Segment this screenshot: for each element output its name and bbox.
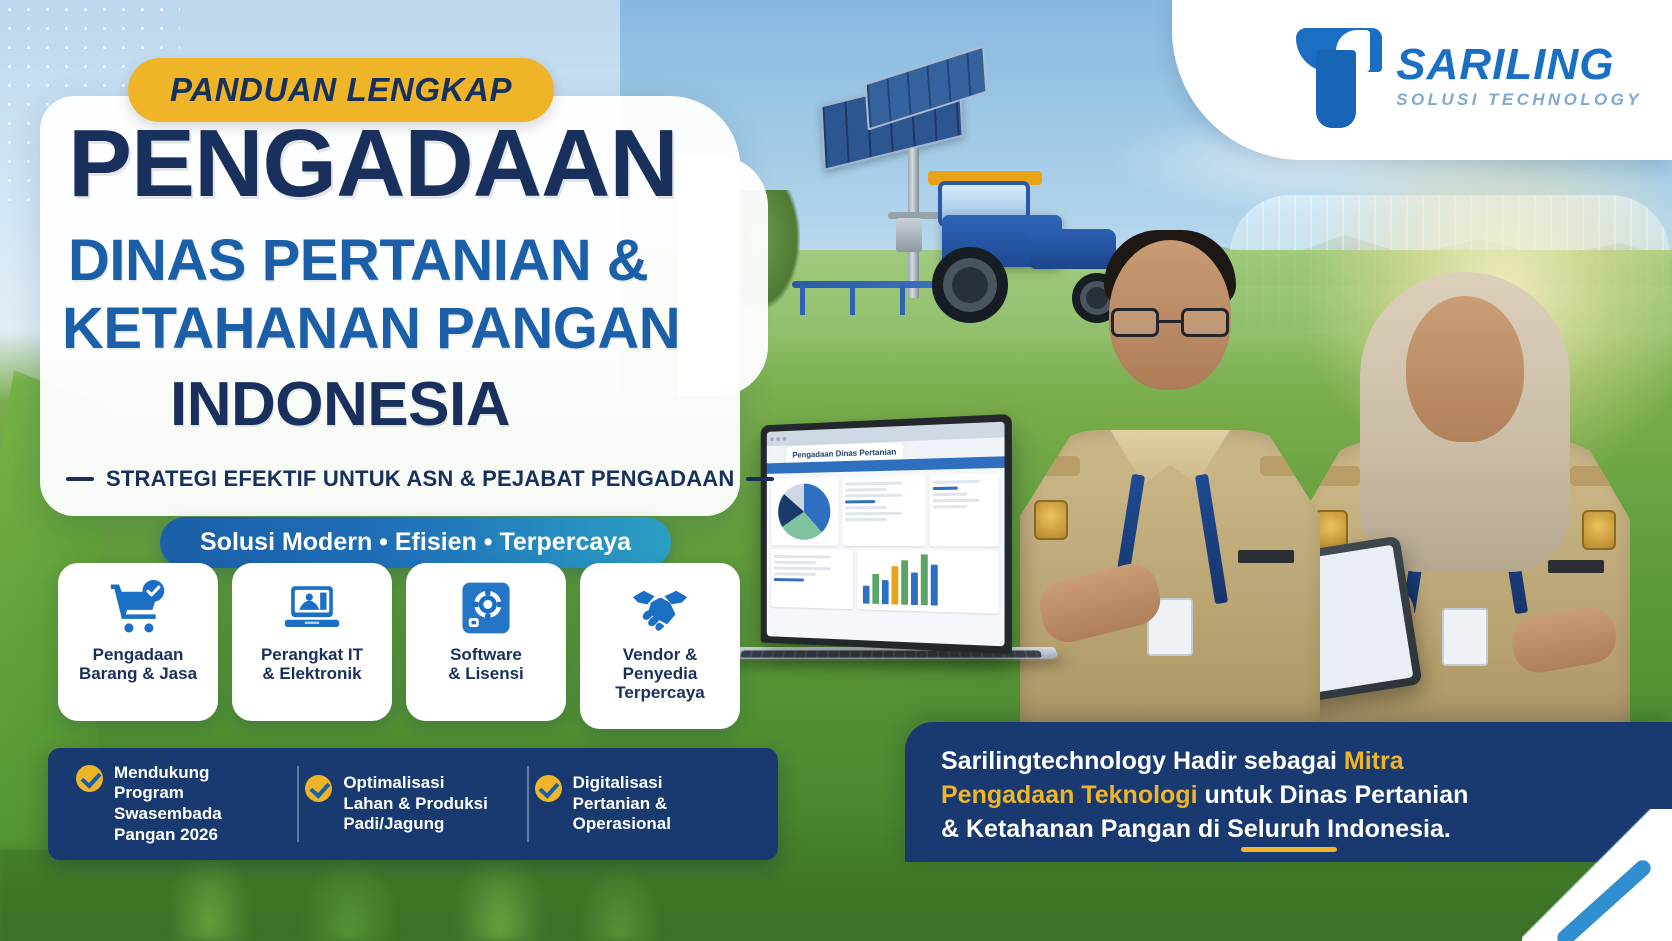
checklist-item-swasembada: Mendukung Program Swasembada Pangan 2026: [70, 763, 297, 846]
feature-card-software[interactable]: Software & Lisensi: [406, 563, 566, 721]
headline-line-2: DINAS PERTANIAN &: [68, 232, 648, 290]
caption-highlight-mitra: Mitra: [1344, 747, 1404, 775]
feature-card-vendor[interactable]: Vendor & Penyedia Terpercaya: [580, 563, 740, 729]
laptop-icon: [281, 579, 343, 637]
female-officer-photo: [1300, 250, 1630, 770]
handshake-icon: [629, 579, 691, 637]
caption-segment-6: & Ketahanan Pangan di Seluruh Indonesia.: [941, 815, 1451, 843]
shopping-cart-check-icon: [107, 579, 169, 637]
headline-line-1: PENGADAAN: [68, 118, 678, 209]
checklist-text: Optimalisasi Lahan & Produksi Padi/Jagun…: [343, 773, 488, 835]
accent-underline: [1241, 847, 1337, 852]
feature-card-label: Perangkat IT & Elektronik: [255, 645, 369, 683]
checklist-bar: Mendukung Program Swasembada Pangan 2026…: [48, 748, 778, 860]
software-gear-icon: [455, 579, 517, 637]
feature-card-pengadaan[interactable]: Pengadaan Barang & Jasa: [58, 563, 218, 721]
feature-card-label: Pengadaan Barang & Jasa: [73, 645, 203, 683]
feature-card-list: Pengadaan Barang & Jasa Perangkat IT & E…: [58, 563, 740, 729]
check-circle-icon: [535, 775, 562, 802]
checklist-item-digitalisasi: Digitalisasi Pertanian & Operasional: [529, 773, 756, 835]
subtitle-strip: STRATEGI EFEKTIF UNTUK ASN & PEJABAT PEN…: [66, 466, 774, 492]
dashboard-bar-chart: [860, 553, 996, 611]
subtitle-text: STRATEGI EFEKTIF UNTUK ASN & PEJABAT PEN…: [106, 466, 734, 492]
feature-card-label: Software & Lisensi: [442, 645, 530, 683]
checklist-text: Mendukung Program Swasembada Pangan 2026: [114, 763, 291, 846]
corner-swoosh-decoration: [1522, 809, 1672, 941]
headline-line-4: INDONESIA: [170, 374, 510, 436]
promotional-banner: Pengadaan Dinas Pertanian: [0, 0, 1672, 941]
laptop-screen: Pengadaan Dinas Pertanian: [767, 422, 1005, 647]
dash-decoration-left: [66, 477, 94, 481]
sariling-t-mark-icon: [1290, 24, 1382, 128]
brand-logo[interactable]: SARILING SOLUSI TECHNOLOGY: [1290, 24, 1642, 128]
caption-segment-1: Sarilingtechnology Hadir sebagai: [941, 747, 1344, 775]
checklist-item-optimalisasi: Optimalisasi Lahan & Produksi Padi/Jagun…: [299, 773, 526, 835]
caption-segment-4: untuk: [1198, 781, 1280, 809]
caption-bold-dinas: Dinas Pertanian: [1279, 781, 1468, 809]
feature-card-label: Vendor & Penyedia Terpercaya: [609, 645, 710, 702]
dashboard-pie-chart: [778, 483, 830, 540]
brand-tagline: SOLUSI TECHNOLOGY: [1396, 90, 1642, 110]
dash-decoration-right: [746, 477, 774, 481]
headline-line-3: KETAHANAN PANGAN: [62, 300, 680, 358]
eyeglasses: [1111, 308, 1229, 338]
checklist-text: Digitalisasi Pertanian & Operasional: [573, 773, 671, 835]
tagline-pill: Solusi Modern • Efisien • Terpercaya: [160, 517, 671, 568]
caption-highlight-teknologi: Pengadaan Teknologi: [941, 781, 1198, 809]
uniform-emblem-icon: [1582, 510, 1616, 550]
check-circle-icon: [305, 775, 332, 802]
feature-card-perangkat-it[interactable]: Perangkat IT & Elektronik: [232, 563, 392, 721]
brand-name: SARILING: [1396, 43, 1642, 87]
id-badge: [1442, 608, 1488, 666]
check-circle-icon: [76, 765, 103, 792]
dashboard-content: [767, 468, 1005, 647]
laptop-device: Pengadaan Dinas Pertanian: [735, 420, 1255, 710]
